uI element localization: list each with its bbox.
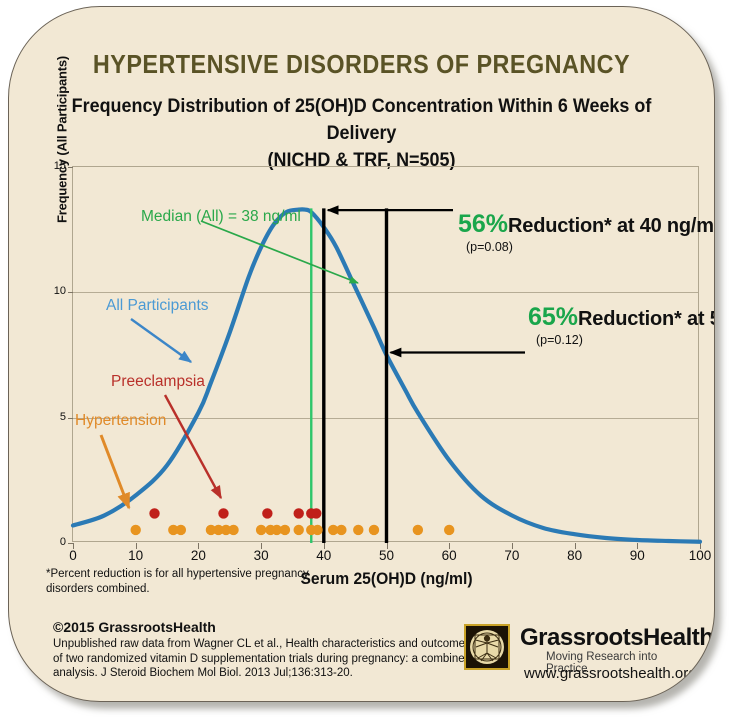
median-annotation-label: Median (All) = 38 ng/ml: [141, 208, 301, 226]
hypertension-arrow: [101, 435, 129, 508]
x-tick-mark: [73, 543, 74, 549]
x-tick-mark: [324, 543, 325, 549]
rug-dot-preeclampsia: [311, 508, 321, 518]
vitruvian-man-icon: [464, 624, 510, 670]
x-tick-mark: [700, 543, 701, 549]
x-tick-mark: [575, 543, 576, 549]
reduction-50-pvalue: (p=0.12): [536, 333, 715, 347]
subtitle-line-1: Frequency Distribution of 25(OH)D Concen…: [56, 93, 668, 147]
copyright-line: ©2015 GrassrootsHealth: [53, 619, 216, 635]
rug-dot-hypertension: [369, 525, 379, 535]
page-title: Hypertensive Disorders of Pregnancy: [44, 49, 679, 80]
all-participants-annotation-label: All Participants: [106, 297, 209, 315]
x-tick-label: 10: [116, 548, 156, 563]
x-tick-label: 40: [304, 548, 344, 563]
x-tick-mark: [387, 543, 388, 549]
reduction-50-percent: 65%: [528, 303, 578, 331]
reduction-40-pvalue: (p=0.08): [466, 240, 715, 254]
rug-dot-preeclampsia: [262, 508, 272, 518]
rug-dot-hypertension: [228, 525, 238, 535]
rug-dot-preeclampsia: [218, 508, 228, 518]
x-tick-label: 90: [617, 548, 657, 563]
rug-dot-hypertension: [353, 525, 363, 535]
x-tick-mark: [136, 543, 137, 549]
x-tick-label: 20: [178, 548, 218, 563]
y-tick-label: 5: [26, 411, 66, 423]
x-tick-mark: [512, 543, 513, 549]
reduction-50-headline: 65%Reduction* at 50 ng/ml: [528, 303, 715, 332]
y-tick-label: 10: [26, 285, 66, 297]
x-tick-mark: [198, 543, 199, 549]
x-tick-label: 50: [367, 548, 407, 563]
footnote: *Percent reduction is for all hypertensi…: [46, 567, 346, 596]
infographic-card: Hypertensive Disorders of Pregnancy Freq…: [8, 6, 715, 702]
rug-dot-hypertension: [413, 525, 423, 535]
x-tick-label: 0: [53, 548, 93, 563]
y-axis-title: Frequency (All Participants): [55, 25, 70, 255]
rug-dot-hypertension: [131, 525, 141, 535]
reduction-callout-50: 65%Reduction* at 50 ng/ml (p=0.12): [528, 303, 715, 347]
reduction-callout-40: 56%Reduction* at 40 ng/ml (p=0.08): [458, 210, 715, 254]
reduction-50-text: Reduction* at 50 ng/ml: [578, 308, 715, 330]
hypertension-annotation-label: Hypertension: [75, 412, 166, 430]
rug-dot-hypertension: [312, 525, 322, 535]
logo-url: www.grassrootshealth.org: [524, 665, 697, 682]
page-subtitle: Frequency Distribution of 25(OH)D Concen…: [56, 93, 668, 174]
preeclampsia-annotation-label: Preeclampsia: [111, 373, 205, 391]
citation-text: Unpublished raw data from Wagner CL et a…: [53, 637, 483, 681]
rug-dot-preeclampsia: [294, 508, 304, 518]
x-tick-mark: [261, 543, 262, 549]
rug-dot-hypertension: [176, 525, 186, 535]
rug-dot-hypertension: [444, 525, 454, 535]
rug-dot-preeclampsia: [149, 508, 159, 518]
rug-dot-hypertension: [294, 525, 304, 535]
logo-name: GrassrootsHealth: [520, 624, 713, 652]
x-tick-mark: [449, 543, 450, 549]
y-tick-label: 0: [26, 536, 66, 548]
y-tick-label: 15: [26, 160, 66, 172]
x-tick-label: 70: [492, 548, 532, 563]
x-tick-mark: [637, 543, 638, 549]
reduction-40-text: Reduction* at 40 ng/ml: [508, 215, 715, 237]
chart-plot-area: 051015 0102030405060708090100 Median (Al…: [72, 166, 699, 542]
rug-dot-hypertension: [336, 525, 346, 535]
x-tick-label: 30: [241, 548, 281, 563]
rug-dot-hypertension: [280, 525, 290, 535]
reduction-40-percent: 56%: [458, 210, 508, 238]
preeclampsia-arrow: [165, 395, 221, 498]
x-tick-label: 60: [429, 548, 469, 563]
grassrootshealth-logo: GrassrootsHealth Moving Research into Pr…: [464, 622, 694, 684]
reduction-40-headline: 56%Reduction* at 40 ng/ml: [458, 210, 715, 239]
median-arrow: [201, 221, 358, 283]
all-participants-arrow: [131, 319, 191, 362]
rug-dot-hypertension: [256, 525, 266, 535]
x-tick-label: 80: [555, 548, 595, 563]
x-tick-label: 100: [680, 548, 715, 563]
